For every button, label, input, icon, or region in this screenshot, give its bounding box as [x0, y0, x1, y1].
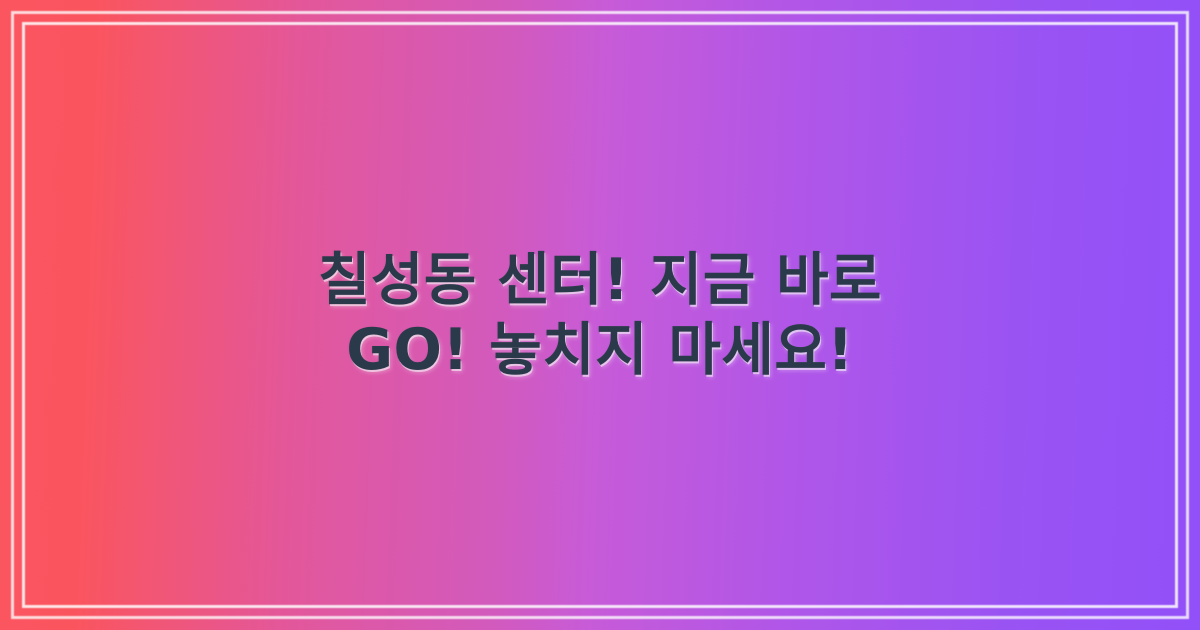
banner-headline: 칠성동 센터! 지금 바로 GO! 놓치지 마세요! [280, 245, 920, 385]
promo-banner: 칠성동 센터! 지금 바로 GO! 놓치지 마세요! [0, 0, 1200, 630]
headline-container: 칠성동 센터! 지금 바로 GO! 놓치지 마세요! [0, 0, 1200, 630]
